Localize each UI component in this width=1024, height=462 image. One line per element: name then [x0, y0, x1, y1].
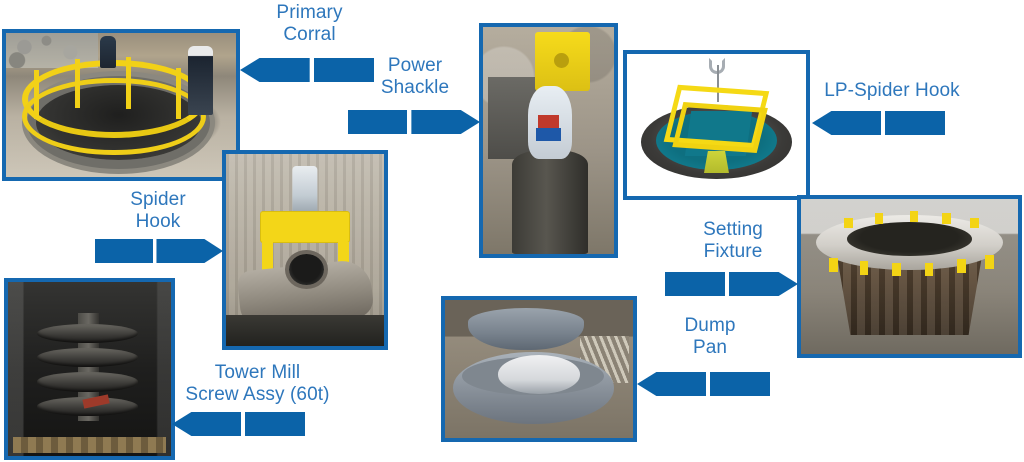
label-tower-mill: Tower Mill Screw Assy (60t): [175, 362, 340, 406]
green-cone: [704, 151, 729, 174]
arrowhead: [812, 111, 881, 135]
yellow-lifting-lug: [535, 32, 590, 91]
arrow-lp-spider-hook[interactable]: [812, 111, 945, 135]
pan-lid: [498, 355, 581, 394]
fixture-lug: [892, 263, 901, 277]
power-shackle-body: [528, 86, 573, 159]
fixture-lug-top: [942, 213, 951, 224]
arrow-dump-pan[interactable]: [637, 372, 770, 396]
arrow-spider-hook[interactable]: [95, 239, 223, 263]
arrowhead: [172, 412, 241, 436]
power-shackle-artwork: [483, 27, 614, 254]
photo-lp-spider-hook[interactable]: [623, 50, 810, 200]
lp-spider-hook-artwork: [627, 54, 806, 196]
photo-dump-pan[interactable]: [441, 296, 637, 442]
arrowhead: [411, 110, 480, 134]
guardrail-post: [34, 70, 39, 119]
arrowhead: [156, 239, 223, 263]
photo-spider-hook[interactable]: [222, 150, 388, 350]
dark-pipe: [226, 315, 384, 346]
arrowhead: [637, 372, 706, 396]
yellow-lifting-frame: [261, 212, 349, 243]
guardrail-post: [75, 59, 80, 108]
arrow-tail: [245, 412, 305, 436]
fixture-lug-top: [875, 213, 884, 224]
arrow-tail: [665, 272, 725, 296]
spider-hook-artwork: [226, 154, 384, 346]
label-lp-spider-hook: LP-Spider Hook: [812, 80, 972, 102]
steel-drum: [512, 150, 588, 254]
timber-skid: [13, 437, 166, 453]
setting-fixture-artwork: [801, 199, 1018, 354]
screw-flight: [37, 372, 138, 391]
arrowhead: [240, 58, 310, 82]
label-power-shackle: Power Shackle: [365, 55, 465, 99]
photo-setting-fixture[interactable]: [797, 195, 1022, 358]
process-flow-diagram: Primary Corral Power Shackle LP-Spider H…: [0, 0, 1024, 462]
fixture-lug-top: [910, 211, 919, 222]
worker-figure: [100, 36, 116, 68]
worker-figure: [153, 68, 185, 154]
worker-figure: [188, 46, 213, 115]
label-primary-corral: Primary Corral: [252, 2, 367, 46]
casting-bore: [289, 254, 324, 285]
arrow-tail: [95, 239, 153, 263]
fixture-lug: [860, 261, 869, 275]
fixture-lug: [985, 255, 994, 269]
tower-mill-screw-artwork: [8, 282, 171, 456]
dump-pan-artwork: [445, 300, 633, 438]
photo-primary-corral[interactable]: [2, 29, 240, 181]
arrow-tail: [885, 111, 945, 135]
photo-tower-mill[interactable]: [4, 278, 175, 460]
guardrail-post: [126, 57, 131, 109]
arrowhead: [729, 272, 798, 296]
arrow-setting-fixture[interactable]: [665, 272, 798, 296]
label-spider-hook: Spider Hook: [108, 189, 208, 233]
photo-power-shackle[interactable]: [479, 23, 618, 258]
arrow-tail: [710, 372, 770, 396]
screw-flight: [37, 324, 138, 343]
yellow-yoke-lower: [672, 102, 768, 153]
fixture-lug-top: [844, 218, 853, 229]
shackle-blue-marking: [536, 128, 562, 141]
arrow-tower-mill[interactable]: [172, 412, 305, 436]
fixture-lug: [829, 258, 838, 272]
label-setting-fixture: Setting Fixture: [678, 219, 788, 263]
arrow-power-shackle[interactable]: [348, 110, 480, 134]
fixture-lug-top: [970, 218, 979, 229]
hoist-cap: [292, 166, 317, 216]
shackle-red-marking: [538, 115, 558, 128]
arrow-primary-corral[interactable]: [240, 58, 374, 82]
arrow-tail: [348, 110, 407, 134]
arrow-tail: [314, 58, 374, 82]
fixture-lug: [925, 263, 934, 277]
primary-corral-artwork: [6, 33, 236, 177]
rear-pan: [468, 308, 585, 349]
label-dump-pan: Dump Pan: [660, 315, 760, 359]
fixture-lug: [957, 259, 966, 273]
